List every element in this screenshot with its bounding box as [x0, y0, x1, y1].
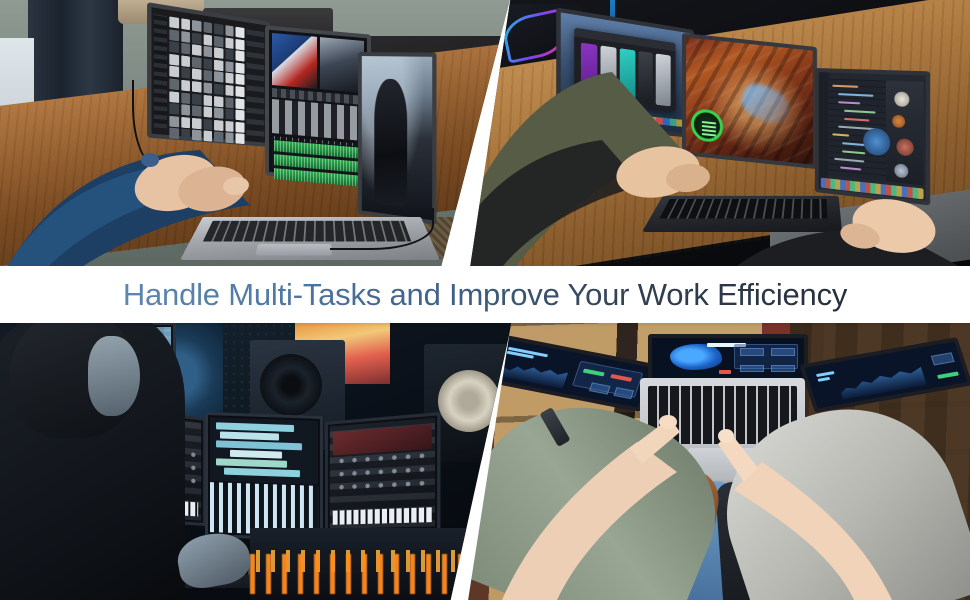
daw-clip: [216, 458, 287, 467]
panel-video-editing: [0, 0, 510, 267]
top-image-row: [0, 0, 970, 267]
music-studio-scene: [0, 322, 512, 600]
gaming-scene: [462, 0, 970, 267]
daw-clip: [224, 468, 300, 478]
daw-arrangement: [210, 417, 318, 485]
person-gaming: [462, 0, 970, 267]
screen-right-effects-rack: [325, 412, 440, 534]
daw-clip: [230, 450, 282, 459]
daw-clip: [220, 431, 279, 440]
bottom-image-row: [0, 322, 970, 600]
daw-clip: [216, 440, 302, 450]
person-b-arm: [462, 322, 970, 600]
panel-data-review: [462, 322, 970, 600]
screen-center-daw: [205, 412, 323, 541]
producer-face: [88, 336, 140, 416]
page-title: Handle Multi-Tasks and Improve Your Work…: [123, 277, 847, 313]
speaker-woofer: [260, 354, 322, 416]
piano-keys: [333, 507, 432, 525]
panel-gaming: [462, 0, 970, 267]
speaker-woofer: [438, 370, 500, 432]
headline-band: Handle Multi-Tasks and Improve Your Work…: [0, 266, 970, 323]
person-typing: [0, 0, 510, 267]
rack-knob-array: [334, 446, 431, 496]
video-editing-scene: [0, 0, 510, 267]
effects-rack: [330, 418, 435, 529]
data-review-scene: [462, 322, 970, 600]
product-feature-banner: Handle Multi-Tasks and Improve Your Work…: [0, 0, 970, 600]
daw-clip: [216, 422, 294, 432]
panel-music-studio: [0, 322, 512, 600]
